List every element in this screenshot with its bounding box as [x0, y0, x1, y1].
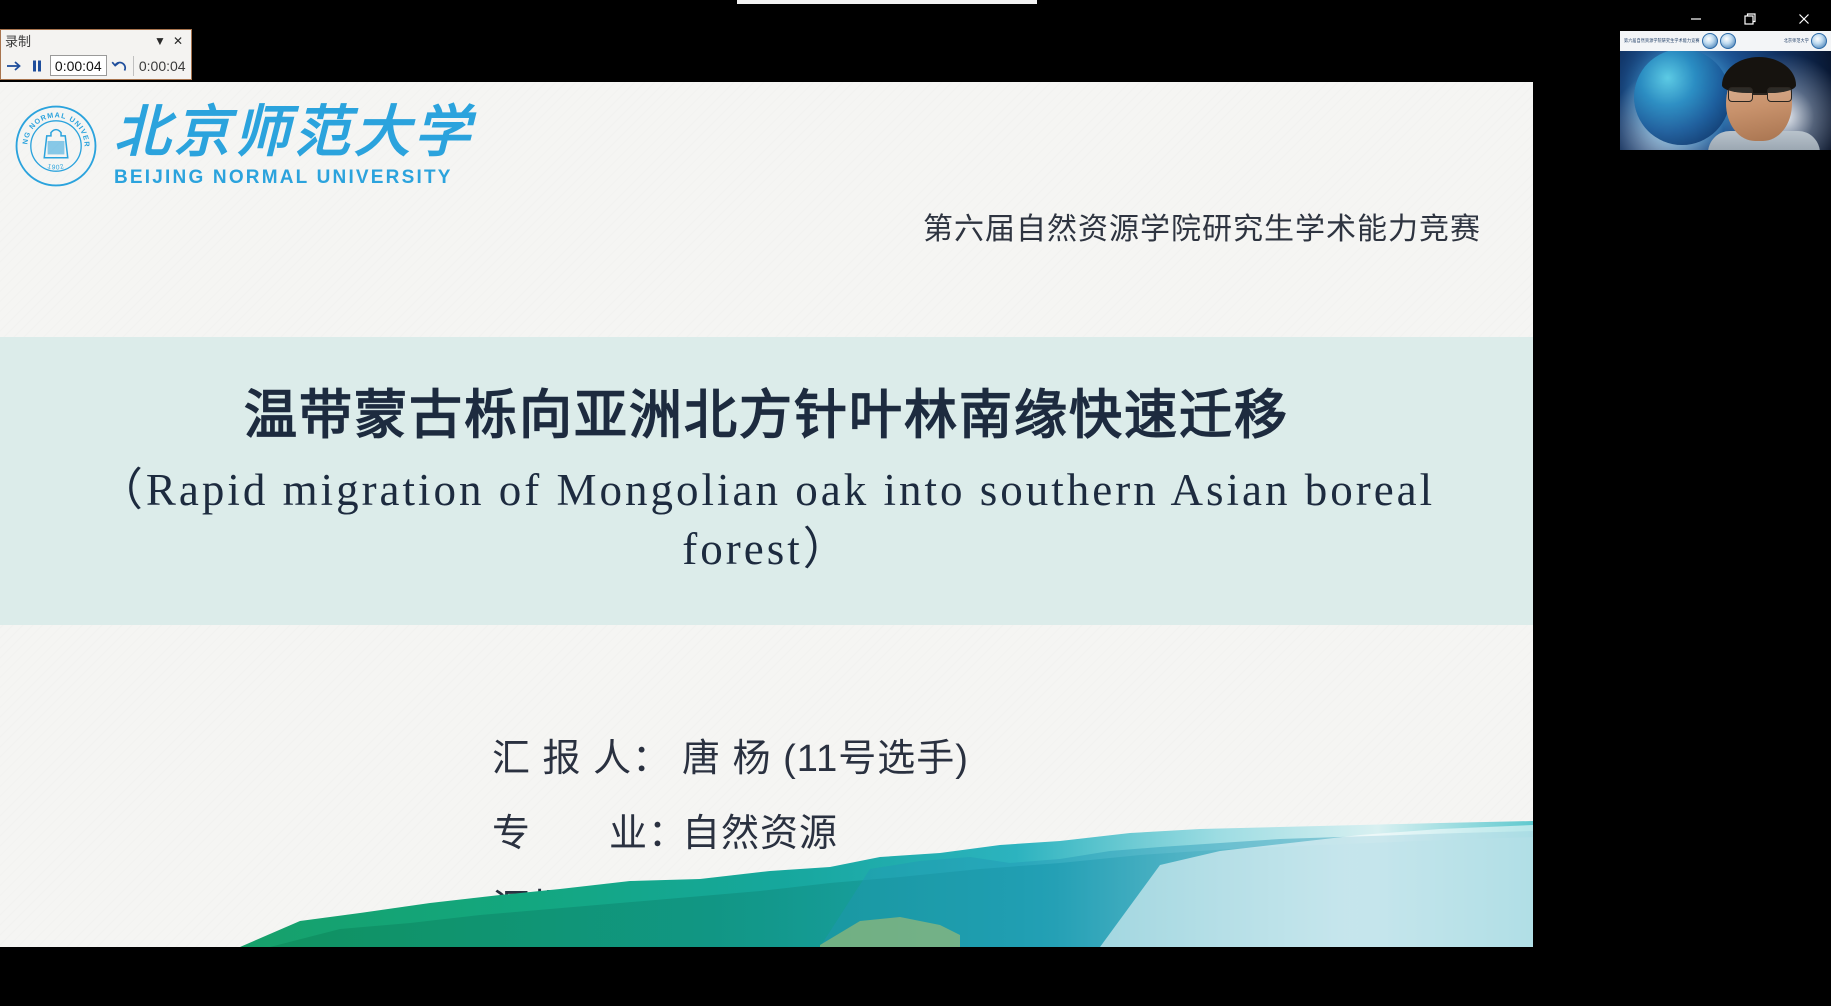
major-label: 专 业： — [492, 802, 682, 857]
recording-elapsed-time[interactable]: 0:00:04 — [50, 55, 107, 76]
glasses-left-lens — [1728, 87, 1753, 102]
university-logo: BEIJING NORMAL UNIVERSITY 1902 北京师范大学 BE… — [14, 104, 474, 189]
slide-header: BEIJING NORMAL UNIVERSITY 1902 北京师范大学 BE… — [0, 82, 1533, 329]
info-row-date: 汇报时间： 2022-11-13 — [492, 877, 969, 932]
info-row-major: 专 业： 自然资源 — [492, 802, 969, 857]
presentation-slide: BEIJING NORMAL UNIVERSITY 1902 北京师范大学 BE… — [0, 82, 1533, 947]
recording-title-label: 录制 — [5, 35, 31, 48]
recording-total-time: 0:00:04 — [136, 55, 188, 76]
recording-toolbar[interactable]: 录制 ▼ ✕ 0:00:04 — [0, 29, 192, 80]
glasses-bridge — [1753, 93, 1767, 95]
glasses-right-lens — [1767, 87, 1792, 102]
desktop-background: 录制 ▼ ✕ 0:00:04 — [0, 0, 1831, 1006]
title-band: 温带蒙古栎向亚洲北方针叶林南缘快速迁移 （Rapid migration of … — [0, 337, 1533, 625]
slide-title-cn: 温带蒙古栎向亚洲北方针叶林南缘快速迁移 — [244, 384, 1289, 448]
banner-emblem-left-icon — [1702, 33, 1718, 49]
pause-icon[interactable] — [27, 54, 47, 77]
major-value: 自然资源 — [682, 802, 838, 857]
university-name-en: BEIJING NORMAL UNIVERSITY — [114, 167, 474, 189]
chevron-down-icon[interactable]: ▼ — [151, 32, 169, 50]
banner-left-group: 第六届自然资源学院研究生学术能力竞赛 — [1624, 33, 1736, 49]
browser-tab-remnant — [737, 0, 1037, 4]
arrow-right-icon[interactable] — [4, 54, 24, 77]
date-label: 汇报时间： — [492, 877, 682, 932]
competition-title: 第六届自然资源学院研究生学术能力竞赛 — [923, 204, 1481, 248]
date-value: 2022-11-13 — [682, 888, 884, 931]
recording-toolbar-titlebar[interactable]: 录制 ▼ ✕ — [1, 30, 191, 52]
banner-emblem-right-icon — [1811, 33, 1827, 49]
banner-right-group: 北京师范大学 — [1784, 33, 1827, 49]
slide-title-en: （Rapid migration of Mongolian oak into s… — [52, 461, 1482, 578]
webcam-banner: 第六届自然资源学院研究生学术能力竞赛 北京师范大学 — [1620, 31, 1831, 51]
banner-emblem-mid-icon — [1720, 33, 1736, 49]
recording-controls: 0:00:04 0:00:04 — [1, 52, 191, 79]
info-row-presenter: 汇 报 人： 唐 杨 (11号选手) — [492, 727, 969, 782]
presenter-value: 唐 杨 (11号选手) — [682, 727, 969, 782]
presenter-label: 汇 报 人： — [492, 727, 682, 782]
banner-right-text: 北京师范大学 — [1784, 38, 1809, 45]
glasses-icon — [1728, 87, 1792, 103]
undo-icon[interactable] — [110, 54, 130, 77]
banner-left-text: 第六届自然资源学院研究生学术能力竞赛 — [1624, 38, 1700, 45]
university-name-cn: 北京师范大学 — [114, 104, 474, 163]
presenter-info: 汇 报 人： 唐 杨 (11号选手) 专 业： 自然资源 汇报时间： 2022-… — [492, 727, 969, 932]
toolbar-divider — [133, 56, 134, 76]
university-wordmark: 北京师范大学 BEIJING NORMAL UNIVERSITY — [114, 104, 474, 189]
webcam-video-feed[interactable]: 第六届自然资源学院研究生学术能力竞赛 北京师范大学 — [1620, 31, 1831, 150]
close-icon[interactable]: ✕ — [169, 32, 187, 50]
university-seal-icon: BEIJING NORMAL UNIVERSITY 1902 — [14, 104, 98, 188]
presenter-avatar — [1708, 57, 1820, 150]
svg-text:1902: 1902 — [46, 163, 65, 172]
